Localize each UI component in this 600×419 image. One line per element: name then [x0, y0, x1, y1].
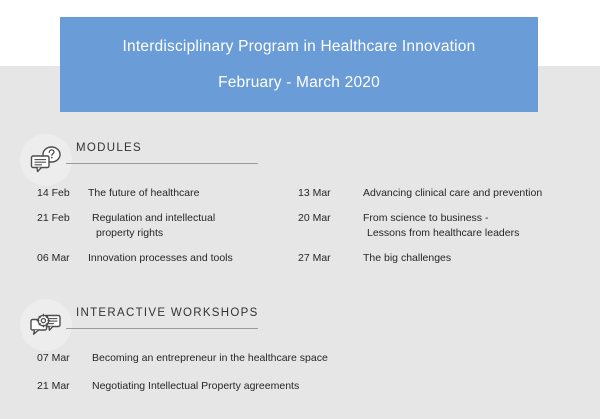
entry-date: 20 Mar — [298, 211, 363, 226]
entry-date: 06 Mar — [37, 251, 88, 266]
list-item: 27 Mar The big challenges — [298, 251, 588, 266]
entry-title: Regulation and intellectual property rig… — [88, 211, 287, 241]
entry-date: 07 Mar — [37, 351, 92, 366]
section-modules: MODULES 14 Feb The future of healthcare … — [0, 130, 600, 186]
list-item: 21 Mar Negotiating Intellectual Property… — [37, 379, 557, 394]
entry-date: 21 Mar — [37, 379, 92, 394]
section-workshops: INTERACTIVE WORKSHOPS 07 Mar Becoming an… — [0, 295, 600, 351]
section-workshops-divider — [66, 328, 258, 329]
modules-column-left: 14 Feb The future of healthcare 21 Feb R… — [37, 186, 287, 276]
speech-bubbles-question-icon — [20, 134, 72, 186]
entry-date: 27 Mar — [298, 251, 363, 266]
entry-title: The big challenges — [363, 251, 588, 266]
section-workshops-title: INTERACTIVE WORKSHOPS — [76, 307, 259, 319]
section-modules-divider — [66, 163, 258, 164]
list-item: 14 Feb The future of healthcare — [37, 186, 287, 201]
entry-title-line1: From science to business - — [363, 212, 488, 224]
entry-title-line2: Lessons from healthcare leaders — [363, 226, 588, 241]
section-workshops-header: INTERACTIVE WORKSHOPS — [0, 295, 600, 351]
list-item: 21 Feb Regulation and intellectual prope… — [37, 211, 287, 241]
list-item: 07 Mar Becoming an entrepreneur in the h… — [37, 351, 557, 366]
speech-bubbles-gear-icon — [20, 299, 72, 351]
entry-date: 13 Mar — [298, 186, 363, 201]
list-item: 13 Mar Advancing clinical care and preve… — [298, 186, 588, 201]
section-modules-header: MODULES — [0, 130, 600, 186]
entry-date: 14 Feb — [37, 186, 88, 201]
workshops-column: 07 Mar Becoming an entrepreneur in the h… — [37, 351, 557, 407]
entry-date: 21 Feb — [37, 211, 88, 226]
modules-column-right: 13 Mar Advancing clinical care and preve… — [298, 186, 588, 276]
page-root: Interdisciplinary Program in Healthcare … — [0, 0, 600, 419]
section-modules-title: MODULES — [76, 142, 142, 154]
entry-title-line2: property rights — [92, 226, 287, 241]
entry-title: Negotiating Intellectual Property agreem… — [92, 379, 557, 394]
entry-title-line1: Regulation and intellectual — [92, 212, 215, 224]
banner-subtitle: February - March 2020 — [218, 75, 380, 91]
entry-title: From science to business - Lessons from … — [363, 211, 588, 241]
title-banner: Interdisciplinary Program in Healthcare … — [60, 17, 538, 112]
entry-title: Advancing clinical care and prevention — [363, 186, 588, 201]
banner-title: Interdisciplinary Program in Healthcare … — [123, 39, 476, 55]
entry-title: Innovation processes and tools — [88, 251, 287, 266]
entry-title: Becoming an entrepreneur in the healthca… — [92, 351, 557, 366]
list-item: 20 Mar From science to business - Lesson… — [298, 211, 588, 241]
entry-title: The future of healthcare — [88, 186, 287, 201]
list-item: 06 Mar Innovation processes and tools — [37, 251, 287, 266]
